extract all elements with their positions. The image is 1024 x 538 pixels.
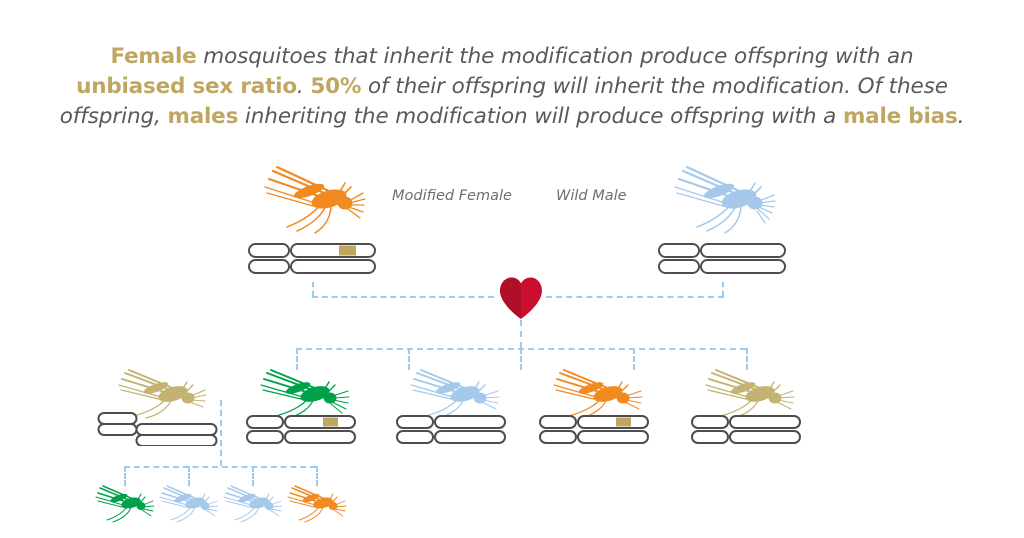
- connector-offspring-drop-3: [520, 348, 522, 370]
- karyotype-offspring-2: [245, 414, 357, 450]
- mosquito-icon-grandoffspring-4: [285, 484, 347, 528]
- inheritance-diagram: Modified Female: [0, 0, 1024, 538]
- offspring-node-5: [690, 368, 802, 444]
- connector-offspring-drop-4: [633, 348, 635, 370]
- connector-offspring-drop-1: [296, 348, 298, 370]
- modification-marker: [323, 418, 338, 427]
- offspring-node-3: [395, 368, 507, 444]
- mosquito-icon-grandoffspring-3: [221, 484, 283, 528]
- offspring-node-1: [96, 368, 221, 444]
- connector-grandoffspring-bar: [124, 466, 316, 468]
- grandoffspring-node-2: [156, 484, 220, 528]
- connector-offspring-drop-5: [746, 348, 748, 370]
- parent-modified-female: [247, 165, 377, 285]
- label-modified-female: Modified Female: [392, 188, 512, 204]
- karyotype-wild-male: [657, 241, 787, 279]
- mosquito-icon-wild-male: [667, 165, 777, 241]
- connector-male-to-heart: [546, 296, 724, 298]
- grandoffspring-node-1: [92, 484, 156, 528]
- connector-heart-down: [520, 320, 522, 348]
- modification-marker: [616, 418, 631, 427]
- modification-marker: [339, 246, 356, 256]
- connector-grandoffspring-drop-3: [252, 466, 254, 486]
- mosquito-icon-grandoffspring-2: [157, 484, 219, 528]
- connector-grandoffspring-drop-4: [316, 466, 318, 486]
- parent-wild-male: [657, 165, 787, 285]
- karyotype-offspring-4: [538, 414, 650, 450]
- mosquito-icon-modified-female: [257, 165, 367, 241]
- grandoffspring-node-4: [284, 484, 348, 528]
- grandoffspring-node-3: [220, 484, 284, 528]
- connector-female-to-heart: [312, 296, 494, 298]
- connector-grandoffspring-drop-2: [188, 466, 190, 486]
- mosquito-icon-grandoffspring-1: [93, 484, 155, 528]
- connector-grandoffspring-drop-1: [124, 466, 126, 486]
- offspring-node-4: [538, 368, 650, 444]
- label-wild-male: Wild Male: [556, 188, 627, 204]
- karyotype-offspring-3: [395, 414, 507, 450]
- karyotype-modified-female: [247, 241, 377, 279]
- mating-heart-icon: [498, 276, 544, 320]
- offspring-node-2: [245, 368, 357, 444]
- karyotype-offspring-5: [690, 414, 802, 450]
- connector-offspring-drop-2: [408, 348, 410, 370]
- karyotype-offspring-1: [96, 412, 221, 450]
